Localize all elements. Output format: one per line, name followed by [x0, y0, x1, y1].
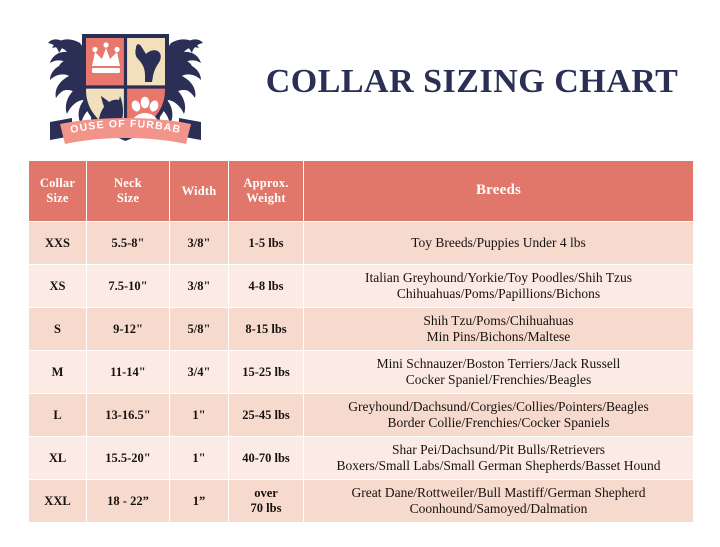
cell-neck-size: 15.5-20" — [87, 437, 169, 479]
cell-neck-size: 5.5-8" — [87, 222, 169, 264]
cell-breeds-line-2: Min Pins/Bichons/Maltese — [304, 329, 693, 345]
cell-collar-size: S — [29, 308, 86, 350]
width-head-line-1: Width — [170, 184, 228, 199]
cell-collar-size-value: XXS — [29, 236, 86, 251]
cell-breeds-line-2: Chihuahuas/Poms/Papillions/Bichons — [304, 286, 693, 302]
column-header-width: Width — [170, 161, 228, 221]
cell-approx-weight: 15-25 lbs — [229, 351, 303, 393]
cell-breeds: Italian Greyhound/Yorkie/Toy Poodles/Shi… — [304, 265, 693, 307]
collar-size-head-line-2: Size — [29, 191, 86, 206]
cell-collar-size-value: XS — [29, 279, 86, 294]
cell-approx-weight: 1-5 lbs — [229, 222, 303, 264]
cell-breeds: Toy Breeds/Puppies Under 4 lbs — [304, 222, 693, 264]
cell-width-value: 1" — [170, 451, 228, 466]
neck-size-head-line-1: Neck — [87, 176, 169, 191]
cell-breeds: Greyhound/Dachsund/Corgies/Collies/Point… — [304, 394, 693, 436]
collar-size-head-line-1: Collar — [29, 176, 86, 191]
table-header: Collar Size Neck Size Width Approx. Weig… — [29, 161, 693, 221]
cell-neck-size: 18 - 22” — [87, 480, 169, 522]
cell-width-value: 3/8" — [170, 236, 228, 251]
table-row: S9-12"5/8"8-15 lbsShih Tzu/Poms/Chihuahu… — [29, 308, 693, 350]
cell-neck-size-value: 5.5-8" — [87, 236, 169, 251]
cell-width: 1" — [170, 394, 228, 436]
cell-collar-size: L — [29, 394, 86, 436]
cell-collar-size: M — [29, 351, 86, 393]
cell-approx-weight-line-1: 25-45 lbs — [229, 408, 303, 423]
table-row: XS7.5-10"3/8"4-8 lbsItalian Greyhound/Yo… — [29, 265, 693, 307]
cell-width: 3/8" — [170, 222, 228, 264]
cell-breeds-line-1: Toy Breeds/Puppies Under 4 lbs — [304, 235, 693, 251]
cell-breeds: Great Dane/Rottweiler/Bull Mastiff/Germa… — [304, 480, 693, 522]
cell-neck-size: 13-16.5" — [87, 394, 169, 436]
cell-breeds-line-2: Border Collie/Frenchies/Cocker Spaniels — [304, 415, 693, 431]
cell-collar-size-value: L — [29, 408, 86, 423]
cell-collar-size-value: S — [29, 322, 86, 337]
cell-approx-weight-line-2: 70 lbs — [229, 501, 303, 516]
table-body: XXS5.5-8"3/8"1-5 lbsToy Breeds/Puppies U… — [29, 222, 693, 522]
table-row: M11-14"3/4"15-25 lbsMini Schnauzer/Bosto… — [29, 351, 693, 393]
column-header-breeds: Breeds — [304, 161, 693, 221]
sizing-table-container: Collar Size Neck Size Width Approx. Weig… — [28, 160, 692, 523]
cell-breeds-line-1: Greyhound/Dachsund/Corgies/Collies/Point… — [304, 399, 693, 415]
table-header-row: Collar Size Neck Size Width Approx. Weig… — [29, 161, 693, 221]
cell-breeds-line-1: Great Dane/Rottweiler/Bull Mastiff/Germa… — [304, 485, 693, 501]
cell-approx-weight: 8-15 lbs — [229, 308, 303, 350]
cell-width: 3/8" — [170, 265, 228, 307]
cell-breeds-line-2: Boxers/Small Labs/Small German Shepherds… — [304, 458, 693, 474]
cell-neck-size-value: 13-16.5" — [87, 408, 169, 423]
cell-neck-size-value: 9-12" — [87, 322, 169, 337]
column-header-approx-weight: Approx. Weight — [229, 161, 303, 221]
cell-approx-weight-line-1: 40-70 lbs — [229, 451, 303, 466]
cell-approx-weight-line-1: 4-8 lbs — [229, 279, 303, 294]
cell-neck-size: 7.5-10" — [87, 265, 169, 307]
cell-neck-size: 11-14" — [87, 351, 169, 393]
cell-width: 3/4" — [170, 351, 228, 393]
cell-breeds-line-1: Italian Greyhound/Yorkie/Toy Poodles/Shi… — [304, 270, 693, 286]
brand-logo: HOUSE OF FURBABY — [28, 18, 223, 150]
table-row: L13-16.5"1"25-45 lbsGreyhound/Dachsund/C… — [29, 394, 693, 436]
cell-collar-size: XXS — [29, 222, 86, 264]
collar-sizing-table: Collar Size Neck Size Width Approx. Weig… — [28, 160, 694, 523]
cell-width-value: 1" — [170, 408, 228, 423]
cell-approx-weight: 25-45 lbs — [229, 394, 303, 436]
cell-collar-size-value: XXL — [29, 494, 86, 509]
cell-neck-size: 9-12" — [87, 308, 169, 350]
cell-collar-size: XL — [29, 437, 86, 479]
cell-approx-weight-line-1: 1-5 lbs — [229, 236, 303, 251]
table-row: XXS5.5-8"3/8"1-5 lbsToy Breeds/Puppies U… — [29, 222, 693, 264]
table-row: XXL18 - 22”1”over70 lbsGreat Dane/Rottwe… — [29, 480, 693, 522]
cell-breeds: Shih Tzu/Poms/ChihuahuasMin Pins/Bichons… — [304, 308, 693, 350]
cell-width-value: 1” — [170, 494, 228, 509]
cell-breeds-line-1: Shih Tzu/Poms/Chihuahuas — [304, 313, 693, 329]
cell-neck-size-value: 15.5-20" — [87, 451, 169, 466]
cell-approx-weight: over70 lbs — [229, 480, 303, 522]
cell-collar-size-value: M — [29, 365, 86, 380]
cell-neck-size-value: 7.5-10" — [87, 279, 169, 294]
cell-collar-size: XS — [29, 265, 86, 307]
cell-width: 1” — [170, 480, 228, 522]
breeds-head-line-1: Breeds — [304, 182, 693, 200]
cell-neck-size-value: 11-14" — [87, 365, 169, 380]
column-header-collar-size: Collar Size — [29, 161, 86, 221]
cell-breeds: Mini Schnauzer/Boston Terriers/Jack Russ… — [304, 351, 693, 393]
cell-collar-size-value: XL — [29, 451, 86, 466]
cell-collar-size: XXL — [29, 480, 86, 522]
cell-approx-weight: 40-70 lbs — [229, 437, 303, 479]
cell-width-value: 5/8" — [170, 322, 228, 337]
cell-breeds-line-1: Shar Pei/Dachsund/Pit Bulls/Retrievers — [304, 442, 693, 458]
collar-sizing-chart-page: HOUSE OF FURBABY COLLAR SIZING CHART Col… — [0, 0, 720, 547]
cell-breeds-line-2: Coonhound/Samoyed/Dalmation — [304, 501, 693, 517]
cell-width: 5/8" — [170, 308, 228, 350]
cell-width-value: 3/8" — [170, 279, 228, 294]
cell-breeds-line-2: Cocker Spaniel/Frenchies/Beagles — [304, 372, 693, 388]
cell-breeds: Shar Pei/Dachsund/Pit Bulls/RetrieversBo… — [304, 437, 693, 479]
cell-approx-weight-line-1: over — [229, 486, 303, 501]
weight-head-line-2: Weight — [229, 191, 303, 206]
cell-approx-weight-line-1: 8-15 lbs — [229, 322, 303, 337]
weight-head-line-1: Approx. — [229, 176, 303, 191]
cell-width-value: 3/4" — [170, 365, 228, 380]
page-header: HOUSE OF FURBABY COLLAR SIZING CHART — [0, 0, 720, 155]
page-title: COLLAR SIZING CHART — [238, 63, 706, 101]
cell-neck-size-value: 18 - 22” — [87, 494, 169, 509]
cell-width: 1" — [170, 437, 228, 479]
cell-breeds-line-1: Mini Schnauzer/Boston Terriers/Jack Russ… — [304, 356, 693, 372]
column-header-neck-size: Neck Size — [87, 161, 169, 221]
cell-approx-weight-line-1: 15-25 lbs — [229, 365, 303, 380]
neck-size-head-line-2: Size — [87, 191, 169, 206]
table-row: XL15.5-20"1"40-70 lbsShar Pei/Dachsund/P… — [29, 437, 693, 479]
cell-approx-weight: 4-8 lbs — [229, 265, 303, 307]
